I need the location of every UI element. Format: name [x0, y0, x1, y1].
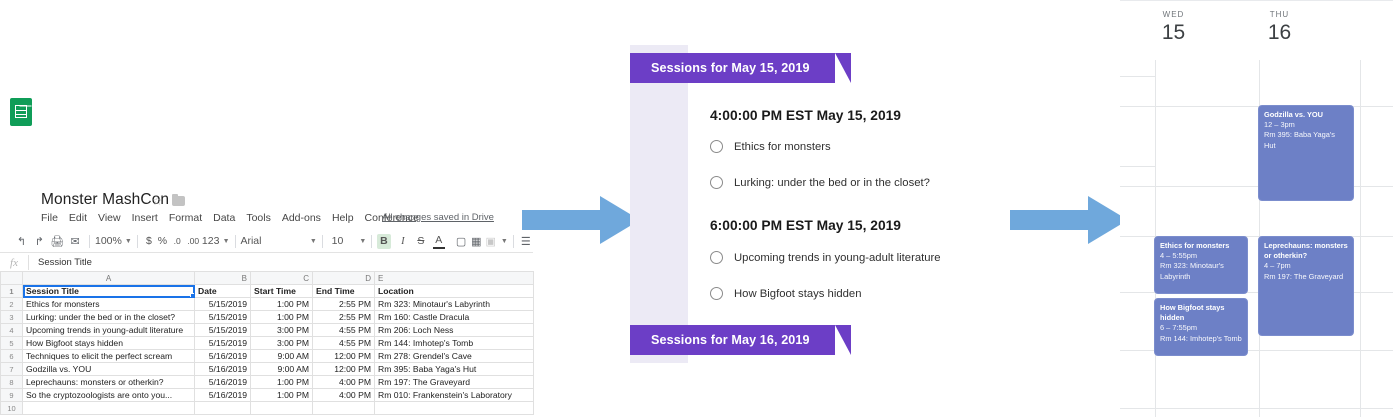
- cell-b1[interactable]: Date: [195, 285, 251, 298]
- table-row: 5 How Bigfoot stays hidden 5/15/2019 3:0…: [1, 337, 534, 350]
- row-header-1[interactable]: 1: [1, 285, 23, 298]
- cell-d10[interactable]: [313, 402, 375, 415]
- row-header-8[interactable]: 8: [1, 376, 23, 389]
- sheets-logo-icon: [10, 98, 32, 126]
- cell-e6[interactable]: Rm 278: Grendel's Cave: [375, 350, 534, 363]
- radio-icon[interactable]: [710, 140, 723, 153]
- cell-d7[interactable]: 12:00 PM: [313, 363, 375, 376]
- cell-a3[interactable]: Lurking: under the bed or in the closet?: [23, 311, 195, 324]
- time-group-heading-2: 6:00:00 PM EST May 15, 2019: [710, 218, 901, 233]
- italic-button[interactable]: I: [397, 232, 410, 250]
- google-form-preview: Sessions for May 15, 2019 4:00:00 PM EST…: [630, 45, 960, 363]
- calendar-event-title: Leprechauns: monsters or otherkin?: [1264, 241, 1348, 261]
- print-icon[interactable]: 🖨: [48, 232, 66, 250]
- column-header-a[interactable]: A: [23, 272, 195, 285]
- fx-icon: fx: [0, 257, 28, 269]
- increase-decimal-icon[interactable]: .00: [185, 232, 202, 250]
- row-header-3[interactable]: 3: [1, 311, 23, 324]
- table-row: 10: [1, 402, 534, 415]
- calendar-event-title: How Bigfoot stays hidden: [1160, 303, 1242, 323]
- cell-c3[interactable]: 1:00 PM: [251, 311, 313, 324]
- merge-chevron-down-icon[interactable]: ▼: [501, 238, 508, 245]
- zoom-level[interactable]: 100%: [95, 232, 122, 250]
- row-header-7[interactable]: 7: [1, 363, 23, 376]
- calendar-day-header-thu[interactable]: THU 16: [1227, 10, 1332, 45]
- cell-d5[interactable]: 4:55 PM: [313, 337, 375, 350]
- column-header-row: A B C D E: [1, 272, 534, 285]
- row-header-9[interactable]: 9: [1, 389, 23, 402]
- cell-b9[interactable]: 5/16/2019: [195, 389, 251, 402]
- calendar-event-time: 4 – 7pm: [1264, 261, 1348, 271]
- table-row: 7 Godzilla vs. YOU 5/16/2019 9:00 AM 12:…: [1, 363, 534, 376]
- document-title[interactable]: Monster MashCon: [41, 191, 169, 209]
- cell-b5[interactable]: 5/15/2019: [195, 337, 251, 350]
- sheet-table: A B C D E 1 Session Title Date Start Tim…: [0, 271, 534, 415]
- font-chevron-down-icon[interactable]: ▼: [310, 238, 317, 245]
- cell-c7[interactable]: 9:00 AM: [251, 363, 313, 376]
- cell-a10[interactable]: [23, 402, 195, 415]
- cell-d9[interactable]: 4:00 PM: [313, 389, 375, 402]
- calendar-day-number: 16: [1227, 21, 1332, 45]
- formula-input[interactable]: Session Title: [29, 257, 92, 268]
- column-header-c[interactable]: C: [251, 272, 313, 285]
- column-header-b[interactable]: B: [195, 272, 251, 285]
- borders-icon[interactable]: ▦: [469, 232, 483, 250]
- percent-format-icon[interactable]: %: [155, 232, 169, 250]
- zoom-chevron-down-icon[interactable]: ▼: [125, 238, 132, 245]
- redo-icon[interactable]: ↱: [30, 232, 48, 250]
- calendar-hour-line: [1120, 408, 1393, 409]
- calendar-event-title: Ethics for monsters: [1160, 241, 1242, 251]
- google-sheets-window: Monster MashCon ☆ File Edit View Insert …: [0, 92, 533, 318]
- calendar-top-divider: [1120, 0, 1393, 1]
- menu-item-add-ons[interactable]: Add-ons: [282, 212, 321, 224]
- menu-item-format[interactable]: Format: [169, 212, 202, 224]
- cell-d8[interactable]: 4:00 PM: [313, 376, 375, 389]
- row-header-6[interactable]: 6: [1, 350, 23, 363]
- cell-e9[interactable]: Rm 010: Frankenstein's Laboratory: [375, 389, 534, 402]
- form-body: [688, 45, 960, 363]
- cell-a7[interactable]: Godzilla vs. YOU: [23, 363, 195, 376]
- more-formats-label[interactable]: 123: [202, 232, 220, 250]
- cell-b6[interactable]: 5/16/2019: [195, 350, 251, 363]
- radio-option-ethics-for-monsters[interactable]: Ethics for monsters: [710, 140, 831, 153]
- radio-option-label: How Bigfoot stays hidden: [734, 288, 861, 300]
- cell-c8[interactable]: 1:00 PM: [251, 376, 313, 389]
- cell-c6[interactable]: 9:00 AM: [251, 350, 313, 363]
- cell-b10[interactable]: [195, 402, 251, 415]
- table-row: 8 Leprechauns: monsters or otherkin? 5/1…: [1, 376, 534, 389]
- decrease-decimal-icon[interactable]: .0: [170, 232, 185, 250]
- strikethrough-button[interactable]: S: [414, 232, 427, 250]
- cell-c1[interactable]: Start Time: [251, 285, 313, 298]
- cell-e3[interactable]: Rm 160: Castle Dracula: [375, 311, 534, 324]
- sheets-toolbar: ↰ ↱ 🖨 ✉ 100% ▼ $ % .0 .00 123 ▼ Arial ▼ …: [0, 230, 533, 252]
- calendar-event-location: Rm 323: Minotaur's Labyrinth: [1160, 261, 1242, 281]
- menu-item-help[interactable]: Help: [332, 212, 354, 224]
- cell-a5[interactable]: How Bigfoot stays hidden: [23, 337, 195, 350]
- calendar-hour-line: [1120, 166, 1155, 167]
- cell-a2[interactable]: Ethics for monsters: [23, 298, 195, 311]
- column-header-e[interactable]: E: [375, 272, 534, 285]
- column-header-d[interactable]: D: [313, 272, 375, 285]
- cell-d4[interactable]: 4:55 PM: [313, 324, 375, 337]
- font-size-chevron-down-icon[interactable]: ▼: [359, 238, 366, 245]
- corner-cell[interactable]: [1, 272, 23, 285]
- calendar-event-location: Rm 395: Baba Yaga's Hut: [1264, 130, 1348, 150]
- form-side-strip: [630, 45, 688, 363]
- google-calendar-week-view: WED 15 THU 16 Godzilla vs. YOU 12 – 3pm …: [1120, 0, 1393, 417]
- cell-e2[interactable]: Rm 323: Minotaur's Labyrinth: [375, 298, 534, 311]
- calendar-day-header-wed[interactable]: WED 15: [1121, 10, 1226, 45]
- table-row: 9 So the cryptozoologists are onto you..…: [1, 389, 534, 402]
- radio-option-upcoming-trends[interactable]: Upcoming trends in young-adult literatur…: [710, 251, 941, 264]
- cell-b2[interactable]: 5/15/2019: [195, 298, 251, 311]
- cell-a9[interactable]: So the cryptozoologists are onto you...: [23, 389, 195, 402]
- radio-icon[interactable]: [710, 287, 723, 300]
- radio-icon[interactable]: [710, 251, 723, 264]
- calendar-event-location: Rm 197: The Graveyard: [1264, 272, 1348, 282]
- calendar-event-location: Rm 144: Imhotep's Tomb: [1160, 334, 1242, 344]
- table-row: 3 Lurking: under the bed or in the close…: [1, 311, 534, 324]
- menu-item-edit[interactable]: Edit: [69, 212, 87, 224]
- formats-chevron-down-icon[interactable]: ▼: [223, 238, 230, 245]
- cell-d3[interactable]: 2:55 PM: [313, 311, 375, 324]
- save-status-link[interactable]: All changes saved in Drive: [382, 212, 494, 223]
- merge-cells-icon[interactable]: ▣: [484, 232, 498, 250]
- row-header-10[interactable]: 10: [1, 402, 23, 415]
- cell-d1[interactable]: End Time: [313, 285, 375, 298]
- calendar-day-number: 15: [1121, 21, 1226, 45]
- table-row: 6 Techniques to elicit the perfect screa…: [1, 350, 534, 363]
- font-family-select[interactable]: Arial: [240, 232, 279, 250]
- formula-bar: fx Session Title: [0, 252, 533, 273]
- calendar-event-ethics[interactable]: Ethics for monsters 4 – 5:55pm Rm 323: M…: [1154, 236, 1248, 294]
- table-row: 1 Session Title Date Start Time End Time…: [1, 285, 534, 298]
- cell-a1[interactable]: Session Title: [23, 285, 195, 298]
- folder-icon[interactable]: [172, 196, 185, 206]
- menu-item-tools[interactable]: Tools: [246, 212, 271, 224]
- calendar-day-of-week: THU: [1227, 10, 1332, 19]
- cell-d6[interactable]: 12:00 PM: [313, 350, 375, 363]
- cell-a8[interactable]: Leprechauns: monsters or otherkin?: [23, 376, 195, 389]
- radio-option-label: Ethics for monsters: [734, 141, 831, 153]
- cell-a6[interactable]: Techniques to elicit the perfect scream: [23, 350, 195, 363]
- cell-c9[interactable]: 1:00 PM: [251, 389, 313, 402]
- calendar-time-grid[interactable]: Godzilla vs. YOU 12 – 3pm Rm 395: Baba Y…: [1120, 60, 1393, 417]
- row-header-2[interactable]: 2: [1, 298, 23, 311]
- right-arrow-icon: [1010, 196, 1128, 244]
- calendar-event-bigfoot[interactable]: How Bigfoot stays hidden 6 – 7:55pm Rm 1…: [1154, 298, 1248, 356]
- cell-c5[interactable]: 3:00 PM: [251, 337, 313, 350]
- menu-bar: File Edit View Insert Format Data Tools …: [41, 212, 419, 224]
- menu-item-insert[interactable]: Insert: [132, 212, 158, 224]
- bold-button[interactable]: B: [377, 234, 390, 249]
- paint-format-icon[interactable]: ✉: [66, 232, 84, 250]
- star-icon[interactable]: ☆: [152, 195, 163, 207]
- undo-icon[interactable]: ↰: [13, 232, 31, 250]
- cell-c2[interactable]: 1:00 PM: [251, 298, 313, 311]
- calendar-column-divider: [1360, 60, 1361, 417]
- cell-e5[interactable]: Rm 144: Imhotep's Tomb: [375, 337, 534, 350]
- cell-e4[interactable]: Rm 206: Loch Ness: [375, 324, 534, 337]
- radio-option-label: Upcoming trends in young-adult literatur…: [734, 252, 941, 264]
- cell-b4[interactable]: 5/15/2019: [195, 324, 251, 337]
- cell-c4[interactable]: 3:00 PM: [251, 324, 313, 337]
- font-size-select[interactable]: 10: [328, 232, 348, 250]
- cell-e10[interactable]: [375, 402, 534, 415]
- radio-option-how-bigfoot-stays-hidden[interactable]: How Bigfoot stays hidden: [710, 287, 861, 300]
- cell-b8[interactable]: 5/16/2019: [195, 376, 251, 389]
- cell-e1[interactable]: Location: [375, 285, 534, 298]
- row-header-5[interactable]: 5: [1, 337, 23, 350]
- cell-e7[interactable]: Rm 395: Baba Yaga's Hut: [375, 363, 534, 376]
- cell-b7[interactable]: 5/16/2019: [195, 363, 251, 376]
- section-banner-may-15: Sessions for May 15, 2019: [630, 53, 835, 83]
- fill-color-icon[interactable]: ▢: [453, 232, 469, 250]
- radio-option-label: Lurking: under the bed or in the closet?: [734, 177, 930, 189]
- radio-option-lurking[interactable]: Lurking: under the bed or in the closet?: [710, 176, 930, 189]
- cell-d2[interactable]: 2:55 PM: [313, 298, 375, 311]
- calendar-event-time: 6 – 7:55pm: [1160, 323, 1242, 333]
- calendar-event-godzilla[interactable]: Godzilla vs. YOU 12 – 3pm Rm 395: Baba Y…: [1258, 105, 1354, 201]
- spreadsheet-grid: A B C D E 1 Session Title Date Start Tim…: [0, 271, 533, 415]
- table-row: 2 Ethics for monsters 5/15/2019 1:00 PM …: [1, 298, 534, 311]
- row-header-4[interactable]: 4: [1, 324, 23, 337]
- radio-icon[interactable]: [710, 176, 723, 189]
- calendar-event-leprechauns[interactable]: Leprechauns: monsters or otherkin? 4 – 7…: [1258, 236, 1354, 336]
- cell-c10[interactable]: [251, 402, 313, 415]
- calendar-day-of-week: WED: [1121, 10, 1226, 19]
- calendar-event-title: Godzilla vs. YOU: [1264, 110, 1348, 120]
- right-arrow-icon: [522, 196, 640, 244]
- cell-e8[interactable]: Rm 197: The Graveyard: [375, 376, 534, 389]
- cell-b3[interactable]: 5/15/2019: [195, 311, 251, 324]
- section-banner-may-16: Sessions for May 16, 2019: [630, 325, 835, 355]
- time-group-heading-1: 4:00:00 PM EST May 15, 2019: [710, 108, 901, 123]
- cell-a4[interactable]: Upcoming trends in young-adult literatur…: [23, 324, 195, 337]
- menu-item-view[interactable]: View: [98, 212, 121, 224]
- calendar-hour-line: [1120, 76, 1155, 77]
- calendar-event-time: 4 – 5:55pm: [1160, 251, 1242, 261]
- text-color-button[interactable]: A: [433, 234, 446, 249]
- calendar-event-time: 12 – 3pm: [1264, 120, 1348, 130]
- currency-format-icon[interactable]: $: [143, 232, 156, 250]
- table-row: 4 Upcoming trends in young-adult literat…: [1, 324, 534, 337]
- menu-item-file[interactable]: File: [41, 212, 58, 224]
- menu-item-data[interactable]: Data: [213, 212, 235, 224]
